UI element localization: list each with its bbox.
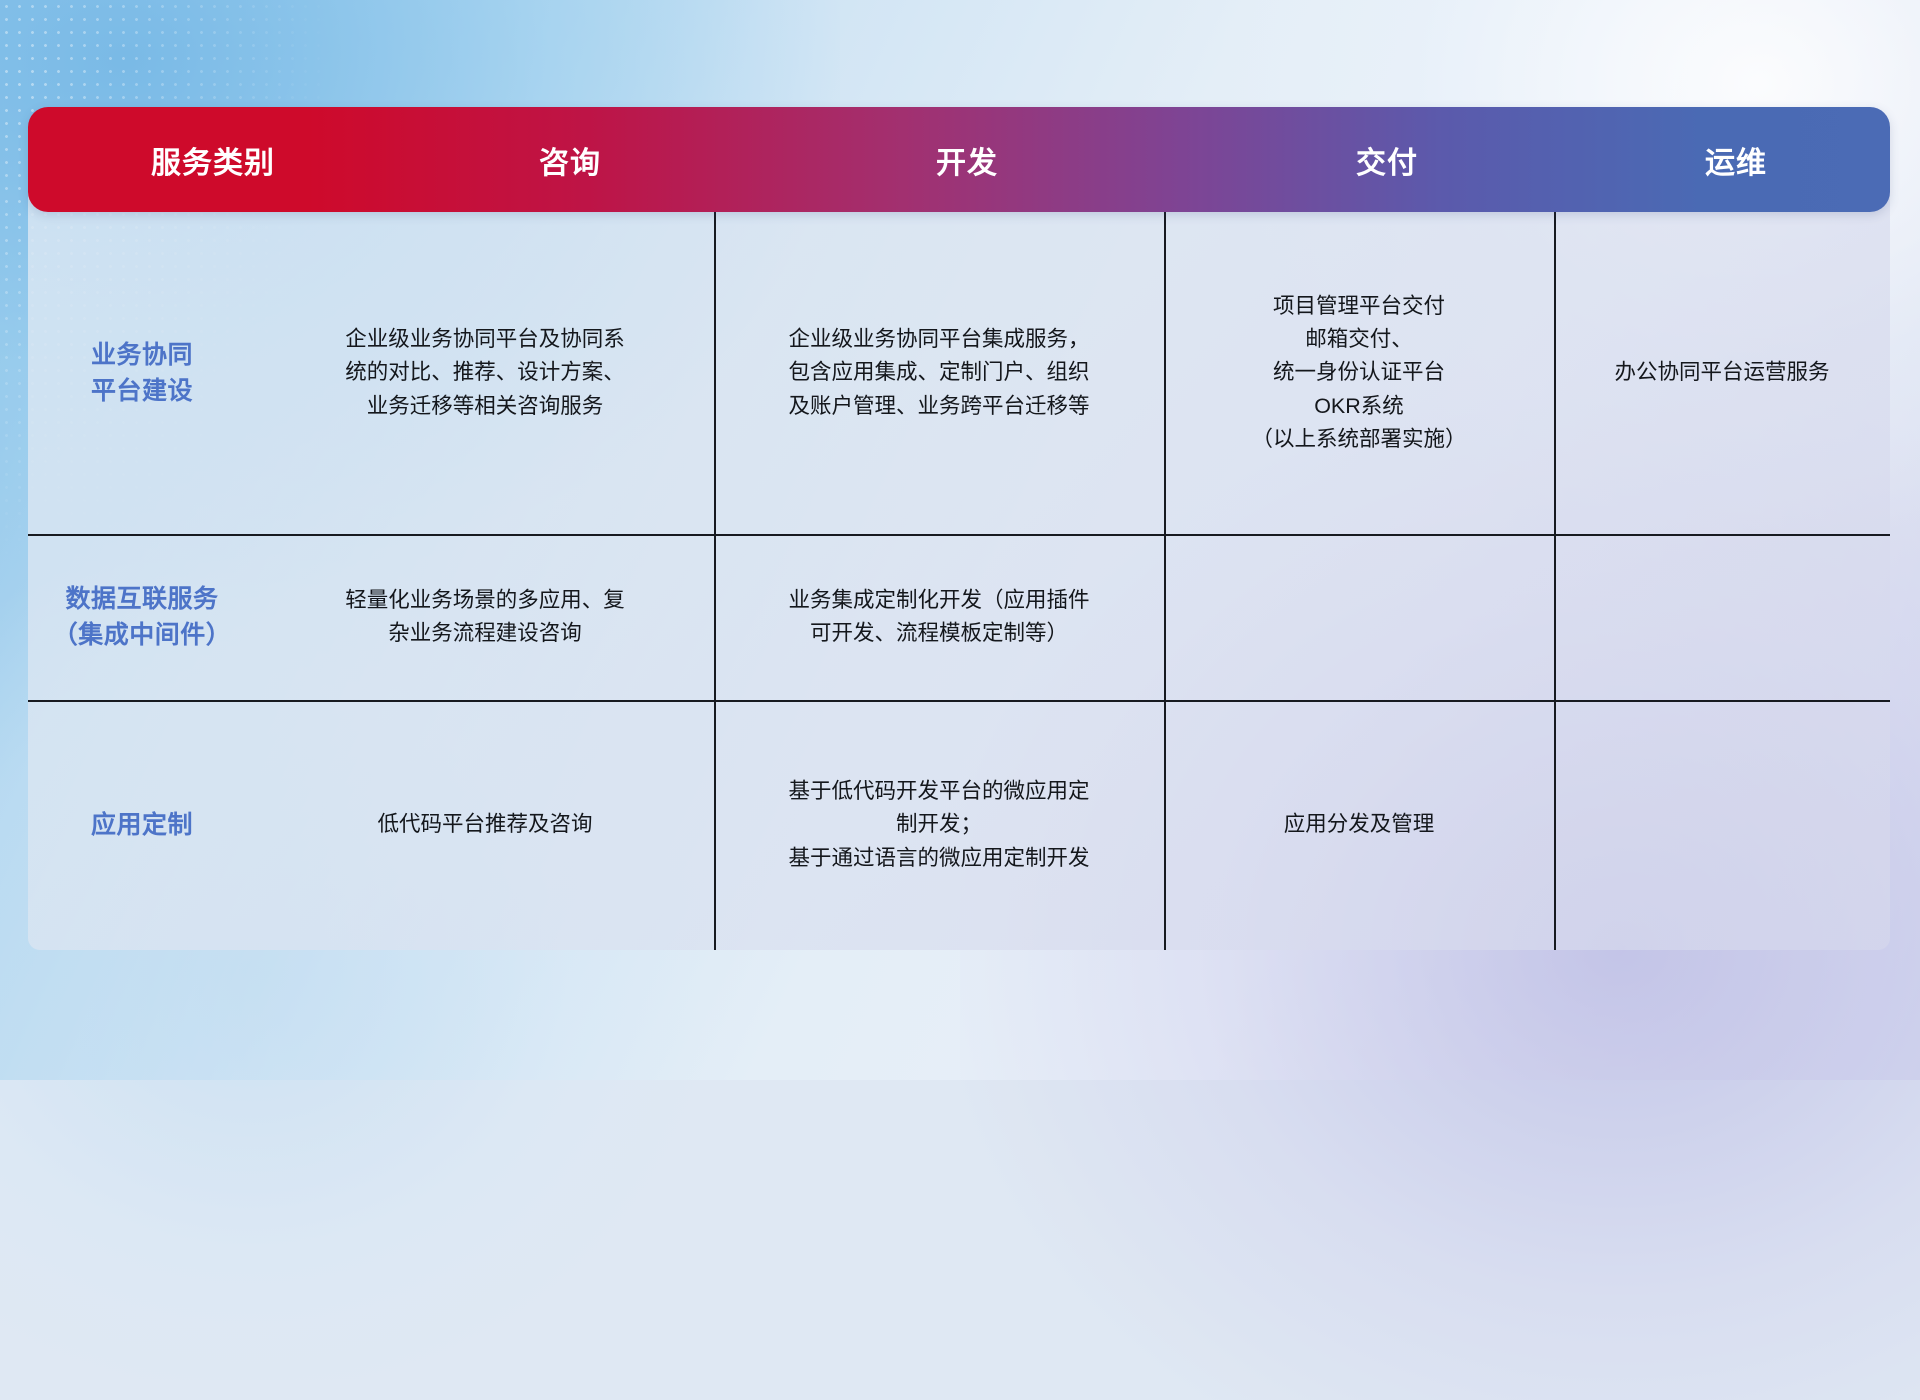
cell-text: 低代码平台推荐及咨询 — [377, 808, 592, 841]
cell-consulting: 低代码平台推荐及咨询 — [256, 700, 714, 950]
column-header-delivery: 交付 — [1192, 138, 1582, 182]
cell-consulting: 轻量化业务场景的多应用、复 杂业务流程建设咨询 — [256, 534, 714, 700]
cell-text: 企业级业务协同平台集成服务， 包含应用集成、定制门户、组织 及账户管理、业务跨平… — [788, 323, 1089, 423]
cell-text: 应用分发及管理 — [1284, 808, 1435, 841]
cell-operations — [1554, 700, 1890, 950]
row-label-cell: 应用定制 — [28, 700, 256, 950]
row-label-cell: 数据互联服务 （集成中间件） — [28, 534, 256, 700]
cell-development: 业务集成定制化开发（应用插件 可开发、流程模板定制等） — [714, 534, 1164, 700]
cell-delivery: 项目管理平台交付 邮箱交付、 统一身份认证平台 OKR系统 （以上系统部署实施） — [1164, 212, 1554, 534]
cell-delivery — [1164, 534, 1554, 700]
table-header-row: 服务类别 咨询 开发 交付 运维 — [28, 107, 1890, 212]
cell-delivery: 应用分发及管理 — [1164, 700, 1554, 950]
row-label-text: 应用定制 — [91, 807, 193, 843]
cell-operations: 办公协同平台运营服务 — [1554, 212, 1890, 534]
cell-operations — [1554, 534, 1890, 700]
cell-text: 企业级业务协同平台及协同系 统的对比、推荐、设计方案、 业务迁移等相关咨询服务 — [345, 323, 625, 423]
column-header-operations: 运维 — [1582, 138, 1890, 182]
row-label-text: 数据互联服务 （集成中间件） — [53, 581, 232, 654]
cell-text: 业务集成定制化开发（应用插件 可开发、流程模板定制等） — [788, 584, 1089, 651]
cell-text: 办公协同平台运营服务 — [1614, 356, 1829, 389]
table-row: 业务协同 平台建设 企业级业务协同平台及协同系 统的对比、推荐、设计方案、 业务… — [28, 212, 1890, 534]
table-grid: 业务协同 平台建设 企业级业务协同平台及协同系 统的对比、推荐、设计方案、 业务… — [28, 212, 1890, 950]
cell-consulting: 企业级业务协同平台及协同系 统的对比、推荐、设计方案、 业务迁移等相关咨询服务 — [256, 212, 714, 534]
cell-text: 轻量化业务场景的多应用、复 杂业务流程建设咨询 — [345, 584, 625, 651]
service-matrix-table: 服务类别 咨询 开发 交付 运维 业务协同 平台建设 企业级业务协同平台及协同系… — [28, 107, 1890, 950]
column-header-consulting: 咨询 — [398, 138, 742, 182]
table-row: 数据互联服务 （集成中间件） 轻量化业务场景的多应用、复 杂业务流程建设咨询 业… — [28, 534, 1890, 700]
column-header-development: 开发 — [742, 138, 1192, 182]
cell-text: 项目管理平台交付 邮箱交付、 统一身份认证平台 OKR系统 （以上系统部署实施） — [1251, 290, 1466, 457]
cell-development: 基于低代码开发平台的微应用定 制开发； 基于通过语言的微应用定制开发 — [714, 700, 1164, 950]
cell-development: 企业级业务协同平台集成服务， 包含应用集成、定制门户、组织 及账户管理、业务跨平… — [714, 212, 1164, 534]
row-label-text: 业务协同 平台建设 — [91, 337, 193, 410]
cell-text: 基于低代码开发平台的微应用定 制开发； 基于通过语言的微应用定制开发 — [788, 775, 1089, 875]
row-label-cell: 业务协同 平台建设 — [28, 212, 256, 534]
table-row: 应用定制 低代码平台推荐及咨询 基于低代码开发平台的微应用定 制开发； 基于通过… — [28, 700, 1890, 950]
column-header-service-category: 服务类别 — [28, 138, 398, 182]
